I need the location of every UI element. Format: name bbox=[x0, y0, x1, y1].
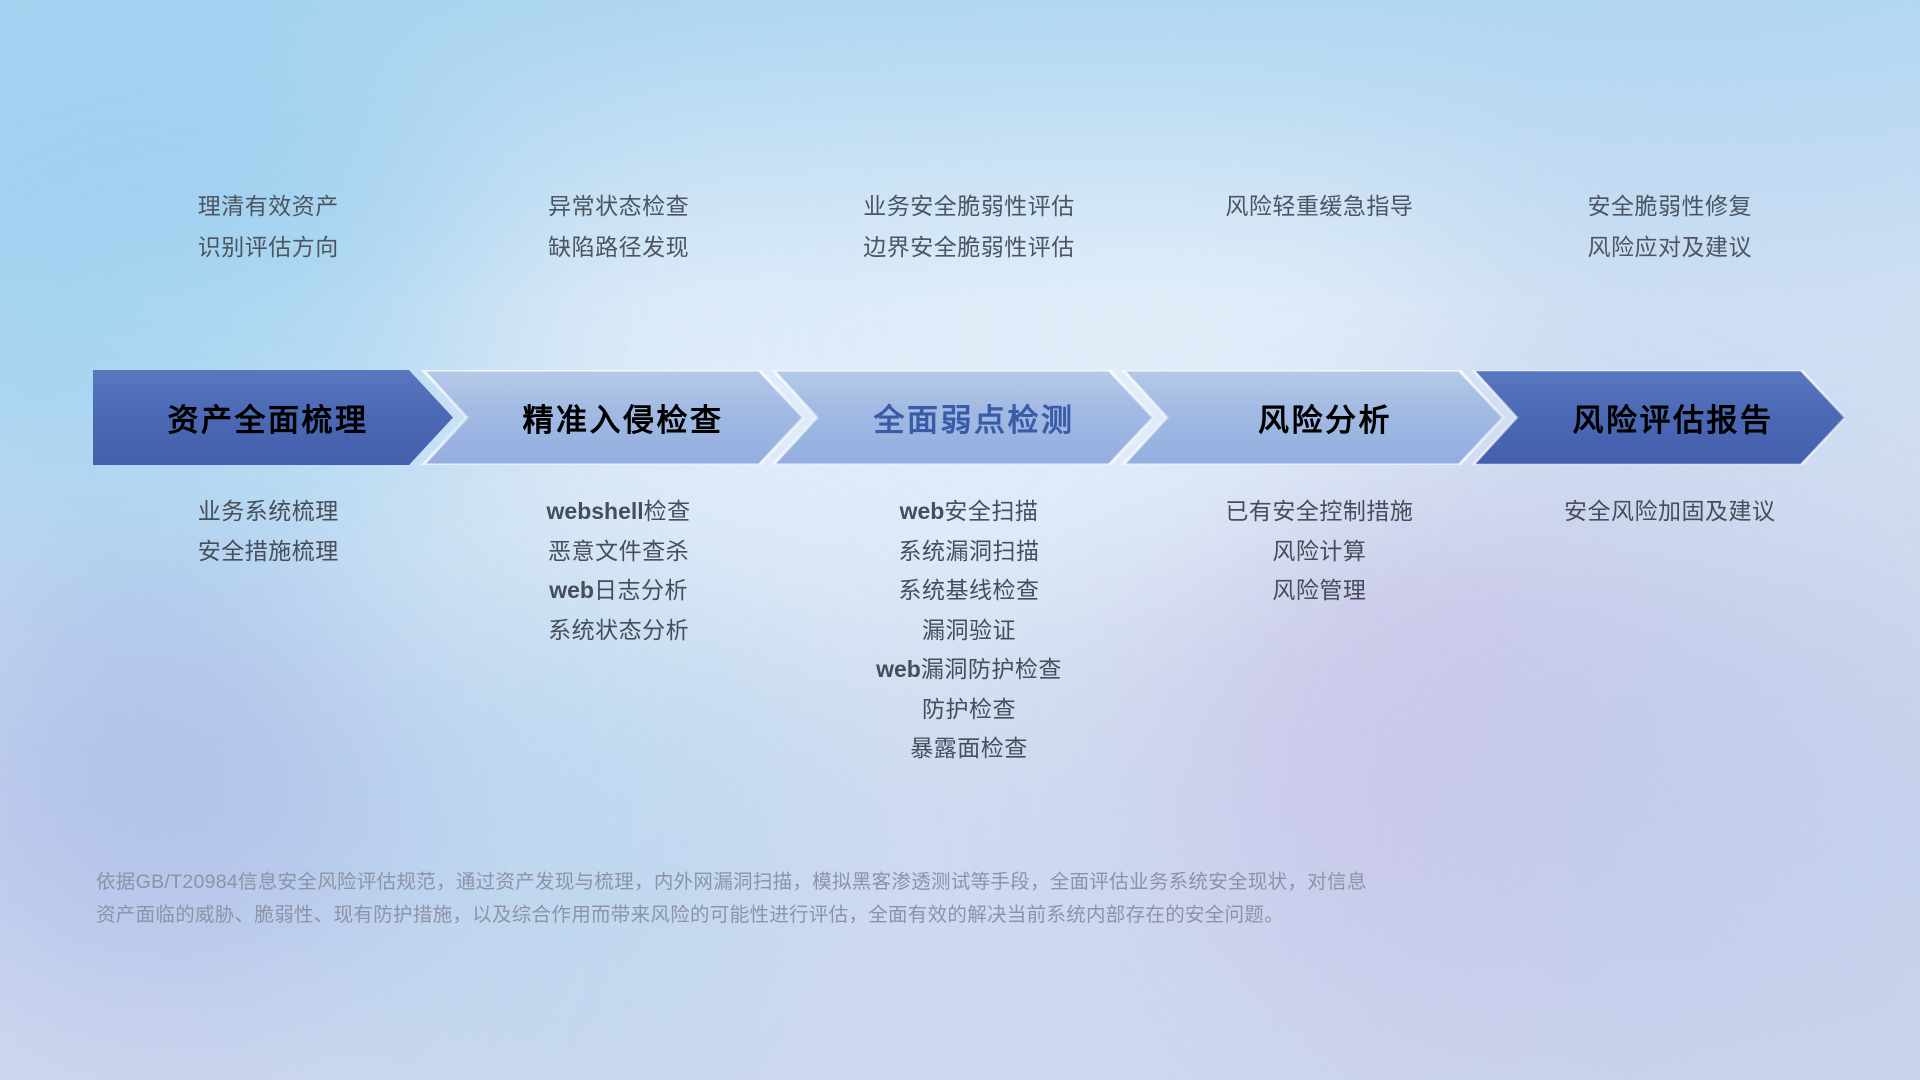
top-label: 异常状态检查 bbox=[443, 186, 793, 227]
list-item: 安全措施梳理 bbox=[93, 532, 443, 572]
top-labels-stage-4: 风险轻重缓急指导 bbox=[1144, 186, 1494, 268]
bottom-list-stage-3: web安全扫描 系统漏洞扫描 系统基线检查 漏洞验证 web漏洞防护检查 防护检… bbox=[794, 492, 1144, 769]
list-item: web漏洞防护检查 bbox=[794, 650, 1144, 690]
bottom-list-stage-1: 业务系统梳理 安全措施梳理 bbox=[93, 492, 443, 571]
top-labels-stage-1: 理清有效资产 识别评估方向 bbox=[93, 186, 443, 268]
footer-description: 依据GB/T20984信息安全风险评估规范，通过资产发现与梳理，内外网漏洞扫描，… bbox=[96, 866, 1596, 932]
list-item: web安全扫描 bbox=[794, 492, 1144, 532]
footer-line-1: 依据GB/T20984信息安全风险评估规范，通过资产发现与梳理，内外网漏洞扫描，… bbox=[96, 866, 1596, 899]
top-label: 识别评估方向 bbox=[93, 227, 443, 268]
list-item: 系统漏洞扫描 bbox=[794, 532, 1144, 572]
top-label: 风险轻重缓急指导 bbox=[1144, 186, 1494, 227]
bottom-list-stage-5: 安全风险加固及建议 bbox=[1495, 492, 1845, 532]
list-item: 漏洞验证 bbox=[794, 611, 1144, 651]
list-item: 已有安全控制措施 bbox=[1144, 492, 1494, 532]
top-label: 理清有效资产 bbox=[93, 186, 443, 227]
list-item: 系统状态分析 bbox=[443, 611, 793, 651]
list-item: 暴露面检查 bbox=[794, 729, 1144, 769]
footer-line-2: 资产面临的威胁、脆弱性、现有防护措施，以及综合作用而带来风险的可能性进行评估，全… bbox=[96, 899, 1596, 932]
list-item: 业务系统梳理 bbox=[93, 492, 443, 532]
top-labels-stage-5: 安全脆弱性修复 风险应对及建议 bbox=[1495, 186, 1845, 268]
list-item: 风险管理 bbox=[1144, 571, 1494, 611]
top-label: 风险应对及建议 bbox=[1495, 227, 1845, 268]
top-label: 缺陷路径发现 bbox=[443, 227, 793, 268]
top-labels-row: 理清有效资产 识别评估方向 异常状态检查 缺陷路径发现 业务安全脆弱性评估 边界… bbox=[93, 186, 1845, 268]
top-label: 边界安全脆弱性评估 bbox=[794, 227, 1144, 268]
top-label: 业务安全脆弱性评估 bbox=[794, 186, 1144, 227]
bottom-list-stage-4: 已有安全控制措施 风险计算 风险管理 bbox=[1144, 492, 1494, 611]
bottom-lists-row: 业务系统梳理 安全措施梳理 webshell检查 恶意文件查杀 web日志分析 … bbox=[93, 492, 1845, 769]
process-chevron-band: 资产全面梳理 精准入侵检查 全面弱点检测 风险分析 风险评估报告 bbox=[93, 370, 1845, 465]
list-item: 风险计算 bbox=[1144, 532, 1494, 572]
top-labels-stage-2: 异常状态检查 缺陷路径发现 bbox=[443, 186, 793, 268]
list-item: webshell检查 bbox=[443, 492, 793, 532]
list-item: 防护检查 bbox=[794, 690, 1144, 730]
list-item: 安全风险加固及建议 bbox=[1495, 492, 1845, 532]
list-item: 系统基线检查 bbox=[794, 571, 1144, 611]
top-labels-stage-3: 业务安全脆弱性评估 边界安全脆弱性评估 bbox=[794, 186, 1144, 268]
top-label: 安全脆弱性修复 bbox=[1495, 186, 1845, 227]
list-item: web日志分析 bbox=[443, 571, 793, 611]
bottom-list-stage-2: webshell检查 恶意文件查杀 web日志分析 系统状态分析 bbox=[443, 492, 793, 650]
list-item: 恶意文件查杀 bbox=[443, 532, 793, 572]
